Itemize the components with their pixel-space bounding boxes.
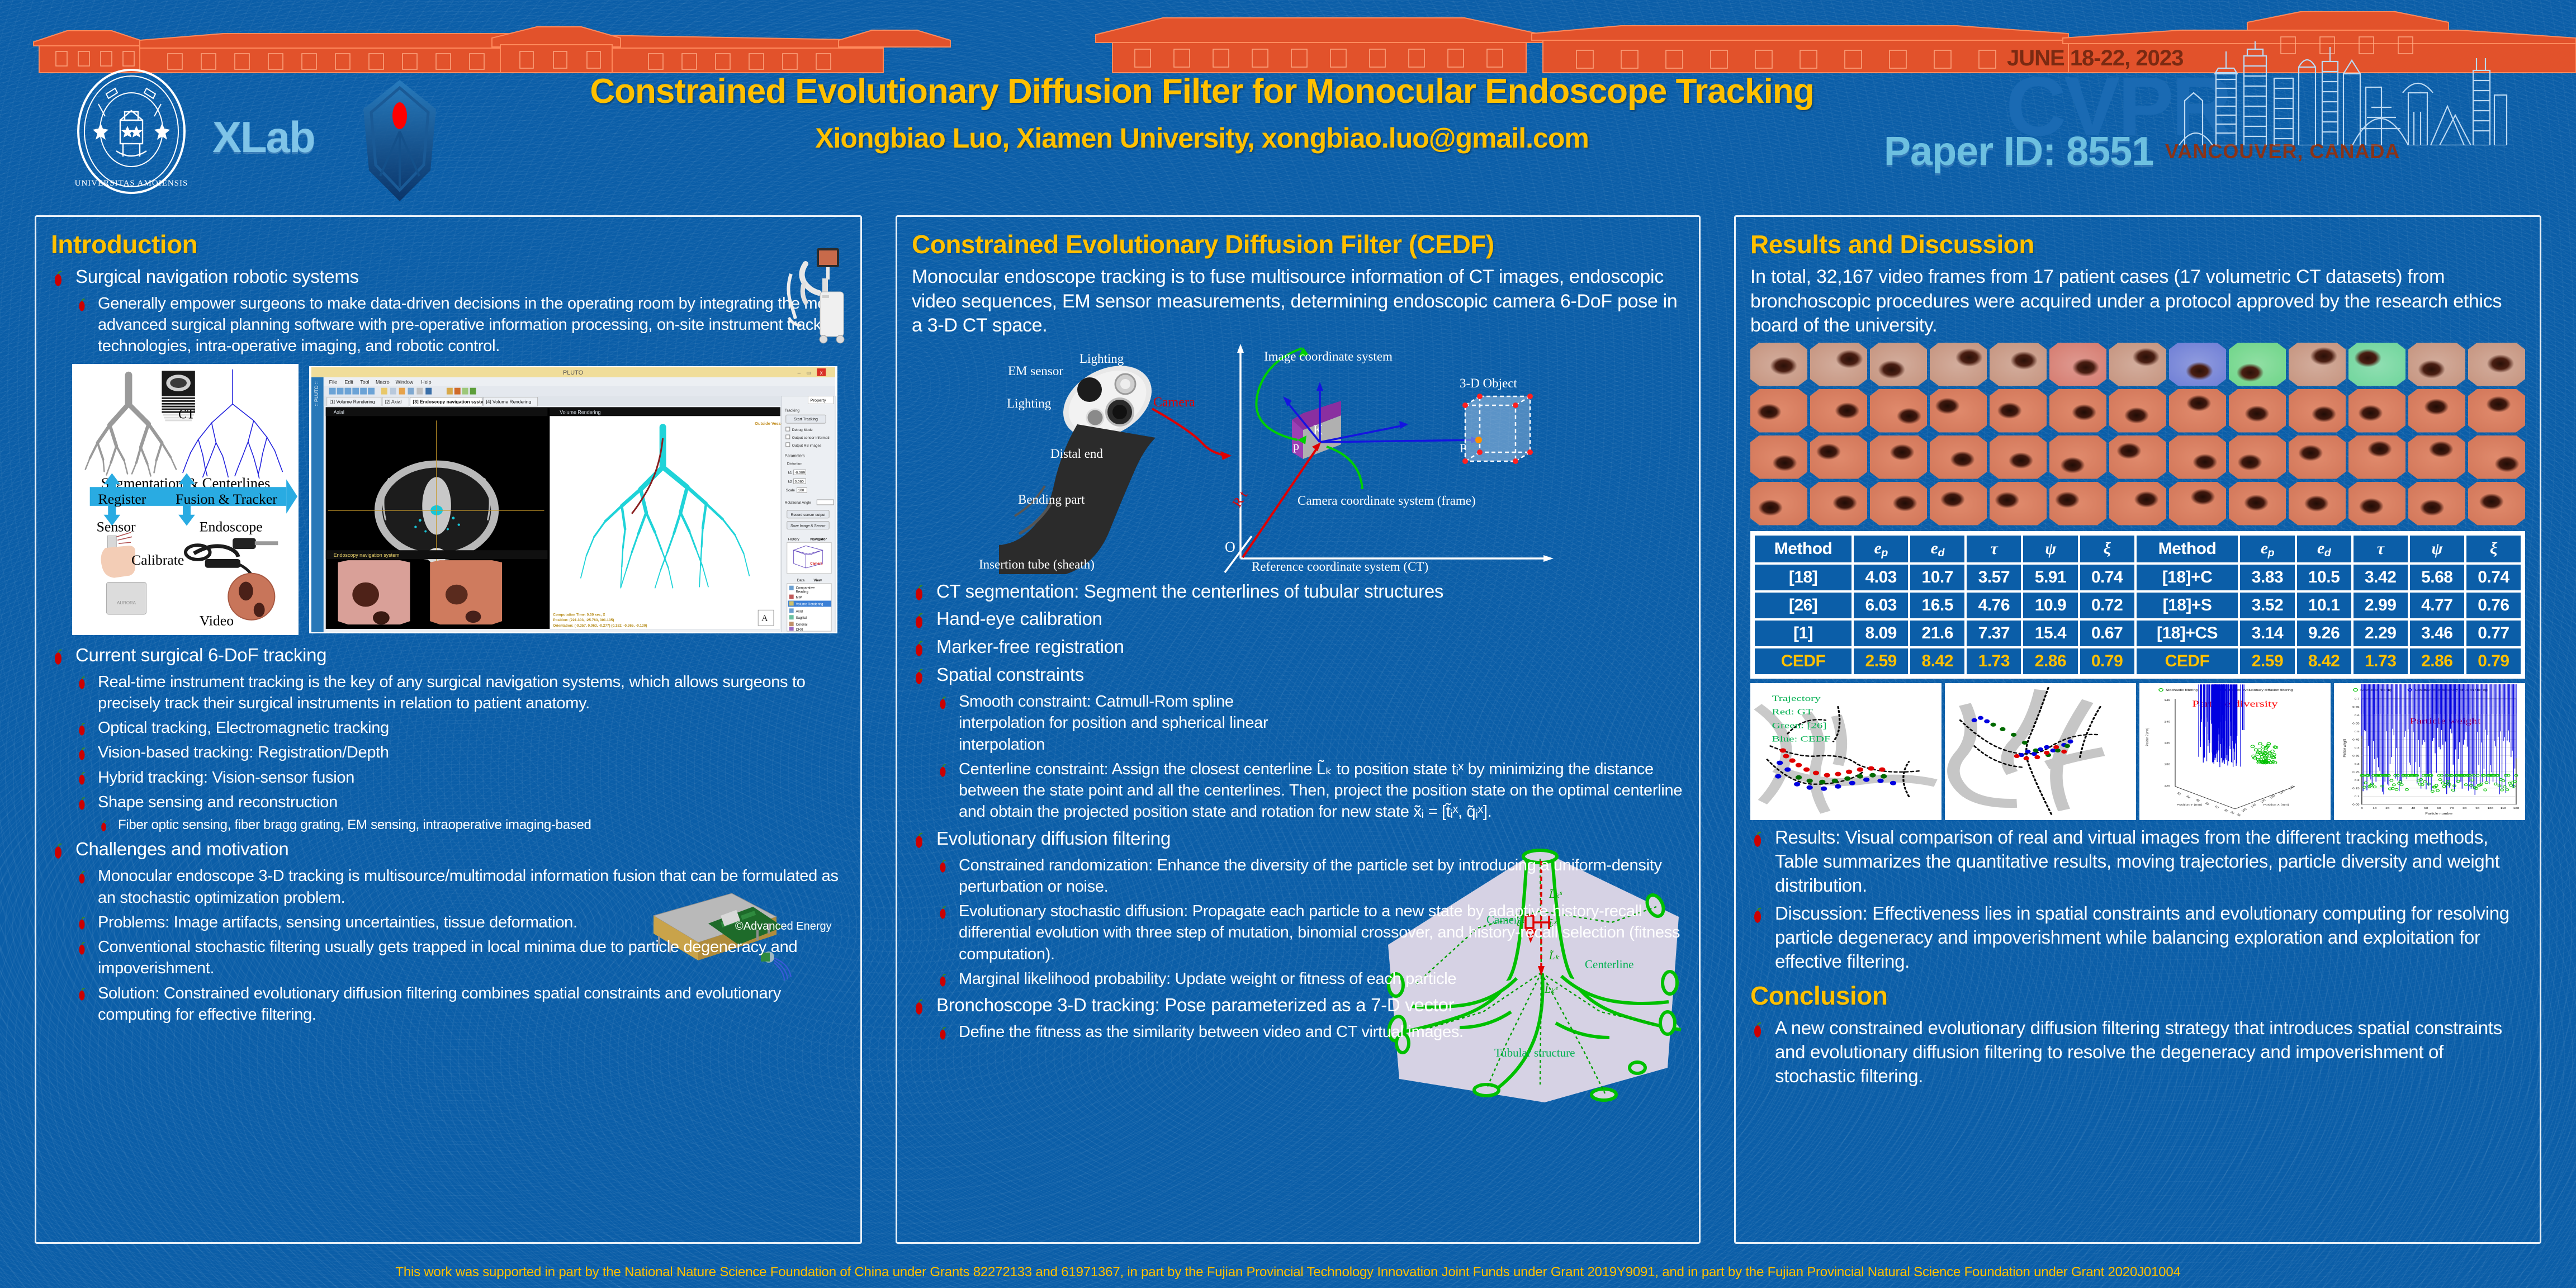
svg-text:Output RB images: Output RB images [792, 443, 822, 447]
chili-bullet-icon [914, 832, 924, 849]
svg-text:▭: ▭ [806, 370, 811, 376]
tubular-label-tubular: Tubular structure [1494, 1046, 1575, 1059]
table-cell: 16.5 [1910, 593, 1964, 618]
svg-text:History: History [788, 537, 800, 541]
table-cell: 2.59 [1854, 648, 1908, 674]
list-item-text: Discussion: Effectiveness lies in spatia… [1775, 903, 2509, 972]
svg-text:135: 135 [2164, 742, 2170, 745]
table-cell: 8.42 [1910, 648, 1964, 674]
coord-label-insertion-tube: Insertion tube (sheath) [979, 557, 1095, 571]
table-cell: 1.73 [1967, 648, 2021, 674]
pluto-panel-axial: Axial [334, 409, 344, 415]
virtual-ct-rendering [1930, 389, 1987, 433]
list-item-text: CT segmentation: Segment the centerlines… [936, 581, 1443, 602]
real-endoscopic-frame [1750, 343, 1807, 386]
svg-text:Position Y (mm): Position Y (mm) [2177, 804, 2203, 807]
cedf-bullets-lv1: CT segmentation: Segment the centerlines… [912, 580, 1684, 688]
virtual-ct-rendering [1750, 435, 1807, 479]
list-item-text: Vision-based tracking: Registration/Dept… [98, 744, 389, 761]
traj-blue: Blue: CEDF [1772, 735, 1831, 744]
virtual-ct-rendering [1810, 435, 1867, 479]
svg-text:Coronal: Coronal [796, 623, 808, 627]
figure-pluto-software: PLUTO x ▭ – :: PLUTO :: FileEditTool Mac… [309, 366, 837, 633]
real-endoscopic-frame [2169, 343, 2226, 386]
table-cell: CEDF [2137, 648, 2238, 674]
list-item: Spatial constraints [912, 663, 1684, 687]
particle-diversity-plot: Stochastic filtering Constrained evoluti… [2141, 684, 2329, 819]
svg-text:0.060: 0.060 [795, 480, 804, 484]
chili-bullet-icon [939, 764, 947, 778]
list-item: Results: Visual comparison of real and v… [1750, 826, 2525, 898]
svg-text:[1] Volume Rendering: [1] Volume Rendering [330, 399, 375, 404]
surgical-robot-photo [773, 247, 846, 345]
table-cell: 0.67 [2080, 621, 2134, 646]
list-item: Problems: Image artifacts, sensing uncer… [75, 912, 846, 933]
poster-header: UNIVERSITAS AMOIENSIS XLab Constrained E… [0, 0, 2576, 201]
chili-bullet-icon [78, 676, 86, 690]
virtual-ct-rendering [2348, 435, 2405, 479]
table-cell: 21.6 [1910, 621, 1964, 646]
x-tick-label: 0 [2361, 807, 2363, 810]
real-endoscopic-frame [2348, 343, 2405, 386]
y-tick-label: 0.05 [2352, 804, 2360, 807]
list-item-text: Results: Visual comparison of real and v… [1775, 827, 2499, 896]
svg-text:[4] Volume Rendering: [4] Volume Rendering [486, 399, 531, 404]
intro-bullets-lv1: Surgical navigation robotic systems [51, 265, 846, 289]
acknowledgement-footer: This work was supported in part by the N… [0, 1265, 2576, 1280]
bronchoscope-bullets-lv2: Define the fitness as the similarity bet… [936, 1021, 1684, 1043]
list-item-text: Conventional stochastic filtering usuall… [98, 938, 797, 977]
table-cell: 10.1 [2297, 593, 2351, 618]
table-cell: 6.03 [1854, 593, 1908, 618]
list-item: Monocular endoscope 3-D tracking is mult… [75, 865, 846, 908]
fig-label-video: Video [200, 612, 234, 628]
x-tick-label: 90 [2475, 807, 2479, 810]
xiamen-university-seal-icon: UNIVERSITAS AMOIENSIS [67, 67, 196, 196]
svg-text:Axial: Axial [796, 610, 803, 613]
tracking-bullets-lv3: Fiber optic sensing, fiber bragg grating… [98, 816, 846, 834]
seal-latin-text: UNIVERSITAS AMOIENSIS [75, 179, 188, 188]
list-item: Marginal likelihood probability: Update … [936, 968, 1684, 989]
list-item-text: Centerline constraint: Assign the closes… [959, 760, 1682, 821]
list-item: Evolutionary stochastic diffusion: Propa… [936, 901, 1684, 965]
results-table: Method ep ed τ ψ ξ Method ep ed τ ψ ξ [1… [1750, 531, 2525, 679]
chili-bullet-icon [939, 859, 947, 874]
list-item-text: Optical tracking, Electromagnetic tracki… [98, 719, 389, 737]
virtual-ct-rendering [1930, 435, 1987, 479]
svg-text:Position: (221.303, -25.763, 3: Position: (221.303, -25.763, 301.135) [553, 618, 614, 622]
table-cell: CEDF [1755, 648, 1851, 674]
coord-label-lighting1: Lighting [1079, 352, 1124, 366]
y-tick-label: 0.15 [2352, 788, 2360, 790]
table-cell: 3.46 [2410, 621, 2464, 646]
real-endoscopic-frame [2289, 343, 2346, 386]
list-item: Discussion: Effectiveness lies in spatia… [1750, 902, 2525, 974]
figure-coordinate-systems: Lighting EM sensor Lighting Distal end B… [912, 340, 1684, 575]
table-cell: 5.68 [2410, 565, 2464, 590]
table-cell: [26] [1755, 593, 1851, 618]
list-item-text: Evolutionary diffusion filtering [936, 828, 1171, 849]
svg-text:x: x [820, 370, 823, 376]
table-cell: 4.76 [1967, 593, 2021, 618]
virtual-ct-rendering [2109, 389, 2166, 433]
page-title: Constrained Evolutionary Diffusion Filte… [503, 73, 1901, 111]
chili-bullet-icon [78, 987, 86, 1002]
virtual-ct-rendering [2289, 389, 2346, 433]
table-header-row: Method ep ed τ ψ ξ Method ep ed τ ψ ξ [1755, 536, 2521, 563]
challenges-bullets-lv2: Monocular endoscope 3-D tracking is mult… [75, 865, 846, 1025]
virtual-ct-rendering [2109, 435, 2166, 479]
svg-text:[2] Axial: [2] Axial [385, 399, 402, 404]
conclusion-heading: Conclusion [1750, 981, 2525, 1011]
list-item: Marker-free registration [912, 635, 1684, 659]
table-cell: [18] [1755, 565, 1851, 590]
particle-weight-plot: Stochastic filtering Constrained evoluti… [2335, 684, 2524, 819]
table-cell: [18]+CS [2137, 621, 2238, 646]
fig-label-calibrate: Calibrate [131, 552, 184, 568]
th-tau-left: τ [1967, 536, 2021, 563]
real-endoscopic-frame [1870, 343, 1927, 386]
real-endoscopic-frame [2049, 343, 2106, 386]
real-endoscopic-frame [1810, 343, 1867, 386]
paper-id: Paper ID: 8551 [1884, 129, 2153, 174]
endoscopic-image-grid [1750, 343, 2525, 525]
x-tick-label: 120 [2513, 807, 2520, 810]
th-method-left: Method [1755, 536, 1851, 563]
table-cell: 7.37 [1967, 621, 2021, 646]
x-tick-label: 70 [2450, 807, 2454, 810]
svg-text:Navigator: Navigator [810, 537, 827, 541]
svg-text:File: File [329, 379, 337, 385]
table-cell: [18]+C [2137, 565, 2238, 590]
chili-bullet-icon [78, 941, 86, 956]
list-item-text: Hybrid tracking: Vision-sensor fusion [98, 769, 354, 787]
results-intro-paragraph: In total, 32,167 video frames from 17 pa… [1750, 265, 2525, 338]
real-endoscopic-frame [2229, 343, 2286, 386]
cvpr-date: JUNE 18-22, 2023 [2007, 46, 2183, 71]
chili-bullet-icon [1753, 1022, 1763, 1039]
figure-trajectory-1: Trajectory Red: GT Green: [26] Blue: CED… [1750, 683, 1942, 820]
table-cell: 3.83 [2240, 565, 2294, 590]
y-tick-label: 0.2 [2355, 779, 2360, 782]
svg-text:125: 125 [2164, 785, 2170, 788]
chili-bullet-icon [53, 271, 63, 287]
list-item-text: Real-time instrument tracking is the key… [98, 673, 806, 712]
table-cell: 2.59 [2240, 648, 2294, 674]
table-row: [26]6.0316.54.7610.90.72[18]+S3.5210.12.… [1755, 593, 2521, 618]
svg-text:MIP: MIP [796, 596, 802, 599]
svg-text:100: 100 [798, 489, 804, 493]
x-tick-label: 30 [2398, 807, 2402, 810]
chili-bullet-icon [914, 669, 924, 685]
list-item: Surgical navigation robotic systems [51, 265, 846, 289]
poster-root: UNIVERSITAS AMOIENSIS XLab Constrained E… [0, 0, 2576, 1288]
th-ed-left: ed [1910, 536, 1964, 563]
pluto-panel-vr: Volume Rendering [560, 409, 600, 415]
table-cell: 15.4 [2023, 621, 2077, 646]
chili-bullet-icon [939, 906, 947, 920]
list-item: Real-time instrument tracking is the key… [75, 671, 846, 714]
list-item-text: Bronchoscope 3-D tracking: Pose paramete… [936, 995, 1454, 1015]
list-item: Fiber optic sensing, fiber bragg grating… [98, 816, 846, 834]
weight-xlabel: Particle number [2425, 812, 2452, 816]
traj-green: Green: [26] [1772, 721, 1827, 730]
coord-label-origin: O [1225, 539, 1235, 555]
y-tick-label: 0.4 [2355, 747, 2360, 750]
real-endoscopic-frame [2109, 343, 2166, 386]
svg-text:Data: Data [797, 578, 805, 582]
chili-bullet-icon [914, 999, 924, 1016]
list-item-text: Challenges and motivation [75, 839, 288, 859]
list-item: Shape sensing and reconstruction [75, 792, 846, 813]
x-tick-label: 110 [2501, 807, 2506, 810]
section-introduction: Introduction Surgical navigation robotic… [35, 215, 862, 1244]
chili-bullet-icon [914, 585, 924, 602]
chili-bullet-icon [78, 797, 86, 811]
table-cell: 0.79 [2080, 648, 2134, 674]
traj-title: Trajectory [1772, 694, 1821, 703]
traj-red: Red: GT [1772, 708, 1813, 717]
list-item-text: Hand-eye calibration [936, 608, 1102, 629]
svg-text:Orientation: (-0.357, 0.063, -: Orientation: (-0.357, 0.063, -0.277) (0.… [553, 624, 647, 628]
bronchoscope-bullets-lv1: Bronchoscope 3-D tracking: Pose paramete… [912, 993, 1684, 1017]
virtual-ct-rendering [2169, 435, 2226, 479]
virtual-ct-rendering [2408, 389, 2465, 433]
y-tick-label: 0.25 [2352, 771, 2360, 774]
y-tick-label: 0.3 [2355, 763, 2360, 766]
coord-label-p-small: p [1293, 439, 1299, 453]
svg-text:Rotational Angle: Rotational Angle [785, 501, 811, 505]
list-item-text: Shape sensing and reconstruction [98, 793, 338, 811]
real-endoscopic-frame [1930, 343, 1987, 386]
legend-stochastic: Stochastic filtering [2166, 689, 2198, 692]
svg-text:–: – [798, 370, 801, 376]
figure-particle-diversity: Stochastic filtering Constrained evoluti… [2139, 683, 2331, 820]
th-xi-left: ξ [2080, 536, 2134, 563]
table-cell: 0.76 [2466, 593, 2521, 618]
virtual-ct-rendering [2348, 482, 2405, 525]
list-item-text: Spatial constraints [936, 664, 1084, 685]
svg-text:Save Image & Sensor: Save Image & Sensor [790, 524, 826, 528]
svg-text:Comparative: Comparative [796, 586, 815, 590]
table-cell: 0.79 [2466, 648, 2521, 674]
table-cell: 3.42 [2354, 565, 2408, 590]
chili-bullet-icon [1753, 907, 1763, 924]
table-cell: 2.86 [2023, 648, 2077, 674]
svg-text:Tool: Tool [360, 379, 369, 385]
virtual-ct-rendering [1870, 389, 1927, 433]
list-item-text: Surgical navigation robotic systems [75, 266, 359, 287]
conclusion-bullets: A new constrained evolutionary diffusion… [1750, 1016, 2525, 1088]
tracking-bullets-lv1: Current surgical 6-DoF tracking [51, 643, 846, 667]
table-cell: 10.9 [2023, 593, 2077, 618]
svg-text:AURORA: AURORA [117, 600, 136, 605]
intro-bullets-lv2: Generally empower surgeons to make data-… [75, 293, 846, 357]
fig-label-endoscope: Endoscope [200, 518, 263, 534]
svg-text:k2: k2 [788, 480, 792, 484]
svg-text:Output sensor informati: Output sensor informati [792, 436, 830, 440]
coord-label-3d-object: 3-D Object [1460, 376, 1517, 390]
coord-label-distal-end: Distal end [1050, 447, 1103, 461]
th-ep-right: ep [2240, 536, 2294, 563]
virtual-ct-rendering [2049, 482, 2106, 525]
chili-bullet-icon [1753, 831, 1763, 848]
svg-text:Scale: Scale [786, 489, 795, 493]
table-cell: 8.09 [1854, 621, 1908, 646]
virtual-ct-rendering [1810, 482, 1867, 525]
y-tick-label: 0.1 [2355, 795, 2360, 798]
list-item: A new constrained evolutionary diffusion… [1750, 1016, 2525, 1088]
table-cell: 0.77 [2466, 621, 2521, 646]
list-item: Conventional stochastic filtering usuall… [75, 936, 846, 979]
list-item-text: Define the fitness as the similarity bet… [959, 1023, 1464, 1041]
table-cell: 4.77 [2410, 593, 2464, 618]
list-item-text: Constrained randomization: Enhance the d… [959, 856, 1662, 896]
table-cell: 2.86 [2410, 648, 2464, 674]
table-cell: 2.29 [2354, 621, 2408, 646]
virtual-ct-rendering [1870, 435, 1927, 479]
svg-text:Outside Vessel: Outside Vessel [755, 421, 784, 426]
real-endoscopic-frame [2408, 343, 2465, 386]
th-method-right: Method [2137, 536, 2238, 563]
svg-text:Window: Window [396, 379, 414, 385]
list-item-text: A new constrained evolutionary diffusion… [1775, 1017, 2502, 1086]
virtual-ct-rendering [1990, 389, 2047, 433]
real-endoscopic-frame [2468, 343, 2525, 386]
svg-text:140: 140 [2164, 721, 2170, 723]
coord-label-camera: Camera [1153, 395, 1195, 410]
y-tick-label: 0.45 [2352, 738, 2360, 741]
list-item-text: Generally empower surgeons to make data-… [98, 295, 842, 356]
table-cell: 2.99 [2354, 593, 2408, 618]
virtual-ct-rendering [2468, 435, 2525, 479]
svg-text:Record sensor output: Record sensor output [791, 513, 826, 517]
virtual-ct-rendering [2289, 435, 2346, 479]
chili-bullet-icon [78, 916, 86, 931]
virtual-ct-rendering [2049, 389, 2106, 433]
coord-label-reference-cs: Reference coordinate system (CT) [1252, 560, 1428, 574]
figure-segmentation-workflow: CT Segmentation & Centerlines [72, 364, 299, 635]
spatial-constraint-bullets: Smooth constraint: Catmull-Rom spline in… [936, 691, 1283, 755]
xlab-wordmark: XLab [212, 112, 315, 163]
results-figures: Trajectory Red: GT Green: [26] Blue: CED… [1750, 683, 2525, 820]
table-cell: 0.74 [2080, 565, 2134, 590]
virtual-ct-rendering [2049, 435, 2106, 479]
coord-label-image-cs: Image coordinate system [1264, 349, 1393, 363]
pluto-parameters-label: Parameters [785, 454, 805, 458]
svg-text:[3] Endoscopy navigation syste: [3] Endoscopy navigation system [413, 399, 487, 404]
svg-text:Reading: Reading [796, 590, 808, 594]
list-item: Constrained randomization: Enhance the d… [936, 855, 1684, 898]
list-item-text: Fiber optic sensing, fiber bragg grating… [118, 817, 591, 832]
virtual-ct-rendering [2229, 482, 2286, 525]
svg-text:k1: k1 [788, 471, 792, 475]
list-item: Hand-eye calibration [912, 607, 1684, 631]
fig-label-register: Register [98, 491, 146, 507]
table-cell: [1] [1755, 621, 1851, 646]
table-row: [1]8.0921.67.3715.40.67[18]+CS3.149.262.… [1755, 621, 2521, 646]
virtual-ct-rendering [1750, 389, 1807, 433]
coord-label-em-sensor: EM sensor [1008, 364, 1063, 378]
list-item-text: Evolutionary stochastic diffusion: Propa… [959, 902, 1680, 963]
list-item: Challenges and motivation [51, 837, 846, 861]
figure-particle-weight: Stochastic filtering Constrained evoluti… [2334, 683, 2525, 820]
section-cedf: Constrained Evolutionary Diffusion Filte… [896, 215, 1701, 1244]
table-cell: 1.73 [2354, 648, 2408, 674]
coord-label-camera-cs: Camera coordinate system (frame) [1298, 494, 1476, 508]
virtual-ct-rendering [2289, 482, 2346, 525]
table-cell: [18]+S [2137, 593, 2238, 618]
svg-text:Position Z (mm): Position Z (mm) [2146, 728, 2149, 746]
virtual-ct-rendering [2348, 389, 2405, 433]
list-item-text: Marginal likelihood probability: Update … [959, 970, 1456, 988]
table-cell: 3.57 [1967, 565, 2021, 590]
x-tick-label: 40 [2411, 807, 2415, 810]
table-cell: 4.03 [1854, 565, 1908, 590]
table-row: [18]4.0310.73.575.910.74[18]+C3.8310.53.… [1755, 565, 2521, 590]
svg-text:Debug Mode: Debug Mode [792, 428, 813, 432]
table-cell: 5.91 [2023, 565, 2077, 590]
fig-label-fusion: Fusion & Tracker [176, 491, 277, 507]
virtual-ct-rendering [1870, 482, 1927, 525]
y-tick-label: 0.6 [2355, 714, 2360, 717]
table-cell: 10.7 [1910, 565, 1964, 590]
table-cell: 0.74 [2466, 565, 2521, 590]
section-results: Results and Discussion In total, 32,167 … [1734, 215, 2541, 1244]
weight-ylabel: Particle weight [2343, 739, 2347, 757]
list-item-text: Marker-free registration [936, 636, 1124, 657]
th-ep-left: ep [1854, 536, 1908, 563]
x-tick-label: 20 [2385, 807, 2389, 810]
cedf-intro-paragraph: Monocular endoscope tracking is to fuse … [912, 265, 1684, 338]
chili-bullet-icon [939, 696, 947, 711]
chili-bullet-icon [939, 973, 947, 988]
svg-text:Macro: Macro [376, 379, 390, 385]
x-tick-label: 60 [2437, 807, 2441, 810]
chili-bullet-icon [78, 870, 86, 885]
chili-bullet-icon [100, 820, 107, 832]
trajectory-plot-1: Trajectory Red: GT Green: [26] Blue: CED… [1751, 684, 1940, 819]
svg-text:145: 145 [2164, 699, 2170, 702]
y-tick-label: 0.35 [2352, 755, 2360, 758]
list-item: Optical tracking, Electromagnetic tracki… [75, 717, 846, 738]
svg-text:View: View [813, 578, 822, 582]
list-item: Define the fitness as the similarity bet… [936, 1021, 1684, 1043]
table-body: [18]4.0310.73.575.910.74[18]+C3.8310.53.… [1755, 565, 2521, 674]
pluto-window-title: PLUTO [563, 370, 583, 376]
centerline-constraint-bullets: Centerline constraint: Assign the closes… [936, 759, 1684, 823]
real-endoscopic-frame [1990, 343, 2047, 386]
chili-bullet-icon [78, 747, 86, 761]
table-cell: 3.52 [2240, 593, 2294, 618]
virtual-ct-rendering [2408, 435, 2465, 479]
table-cell: 10.5 [2297, 565, 2351, 590]
list-item: Evolutionary diffusion filtering [912, 827, 1684, 851]
x-tick-label: 50 [2424, 807, 2428, 810]
virtual-ct-rendering [1750, 482, 1807, 525]
svg-text:Camera: Camera [810, 562, 822, 566]
introduction-figures: CT Segmentation & Centerlines [51, 364, 846, 638]
chili-bullet-icon [78, 771, 86, 786]
pluto-start-tracking-button: Start Tracking [794, 418, 818, 422]
virtual-ct-rendering [2109, 482, 2166, 525]
virtual-ct-rendering [2169, 389, 2226, 433]
cedf-heading: Constrained Evolutionary Diffusion Filte… [912, 229, 1684, 259]
list-item: Generally empower surgeons to make data-… [75, 293, 846, 357]
author-line: Xiongbiao Luo, Xiamen University, xongbi… [503, 122, 1901, 154]
svg-text::: PLUTO ::: :: PLUTO :: [314, 381, 319, 406]
chili-bullet-icon [78, 722, 86, 737]
